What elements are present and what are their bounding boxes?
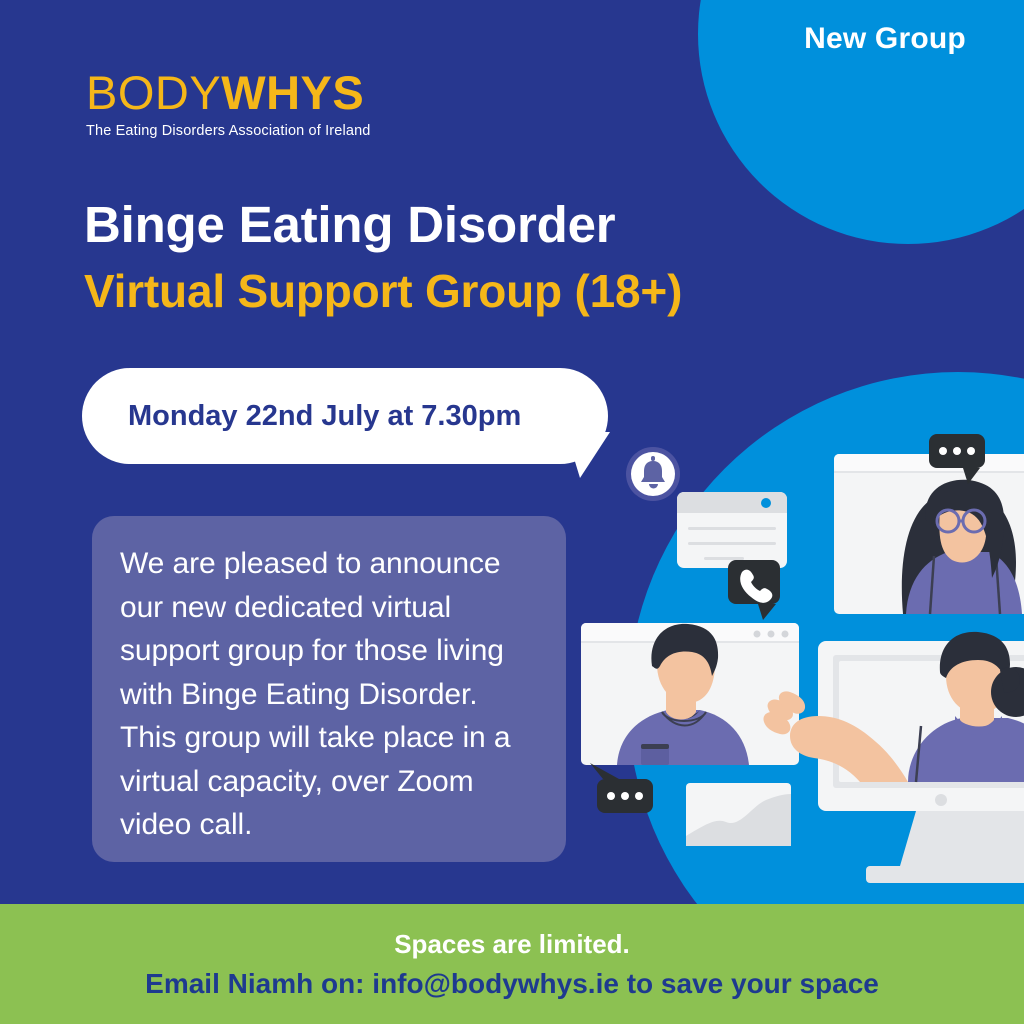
footer-band: Spaces are limited. Email Niamh on: info… — [0, 904, 1024, 1024]
page-title: Binge Eating Disorder Virtual Support Gr… — [84, 196, 682, 318]
bodywhys-logo: BODYWHYS The Eating Disorders Associatio… — [86, 68, 371, 139]
date-text: Monday 22nd July at 7.30pm — [128, 400, 521, 433]
title-secondary: Virtual Support Group (18+) — [84, 264, 682, 318]
logo-whys-text: WHYS — [221, 66, 364, 119]
date-bubble: Monday 22nd July at 7.30pm — [82, 368, 608, 464]
title-primary: Binge Eating Disorder — [84, 196, 682, 254]
logo-body-text: BODY — [86, 66, 221, 119]
bell-notification-icon — [626, 447, 680, 501]
logo-tagline: The Eating Disorders Association of Irel… — [86, 123, 371, 139]
description-panel: We are pleased to announce our new dedic… — [92, 516, 566, 862]
footer-spaces-text: Spaces are limited. — [394, 929, 630, 960]
footer-email-text: Email Niamh on: info@bodywhys.ie to save… — [145, 968, 879, 1000]
poster-canvas: New Group BODYWHYS The Eating Disorders … — [0, 0, 1024, 1024]
logo-wordmark: BODYWHYS — [86, 68, 371, 118]
description-text: We are pleased to announce our new dedic… — [120, 542, 536, 847]
new-group-badge: New Group — [770, 22, 1000, 56]
